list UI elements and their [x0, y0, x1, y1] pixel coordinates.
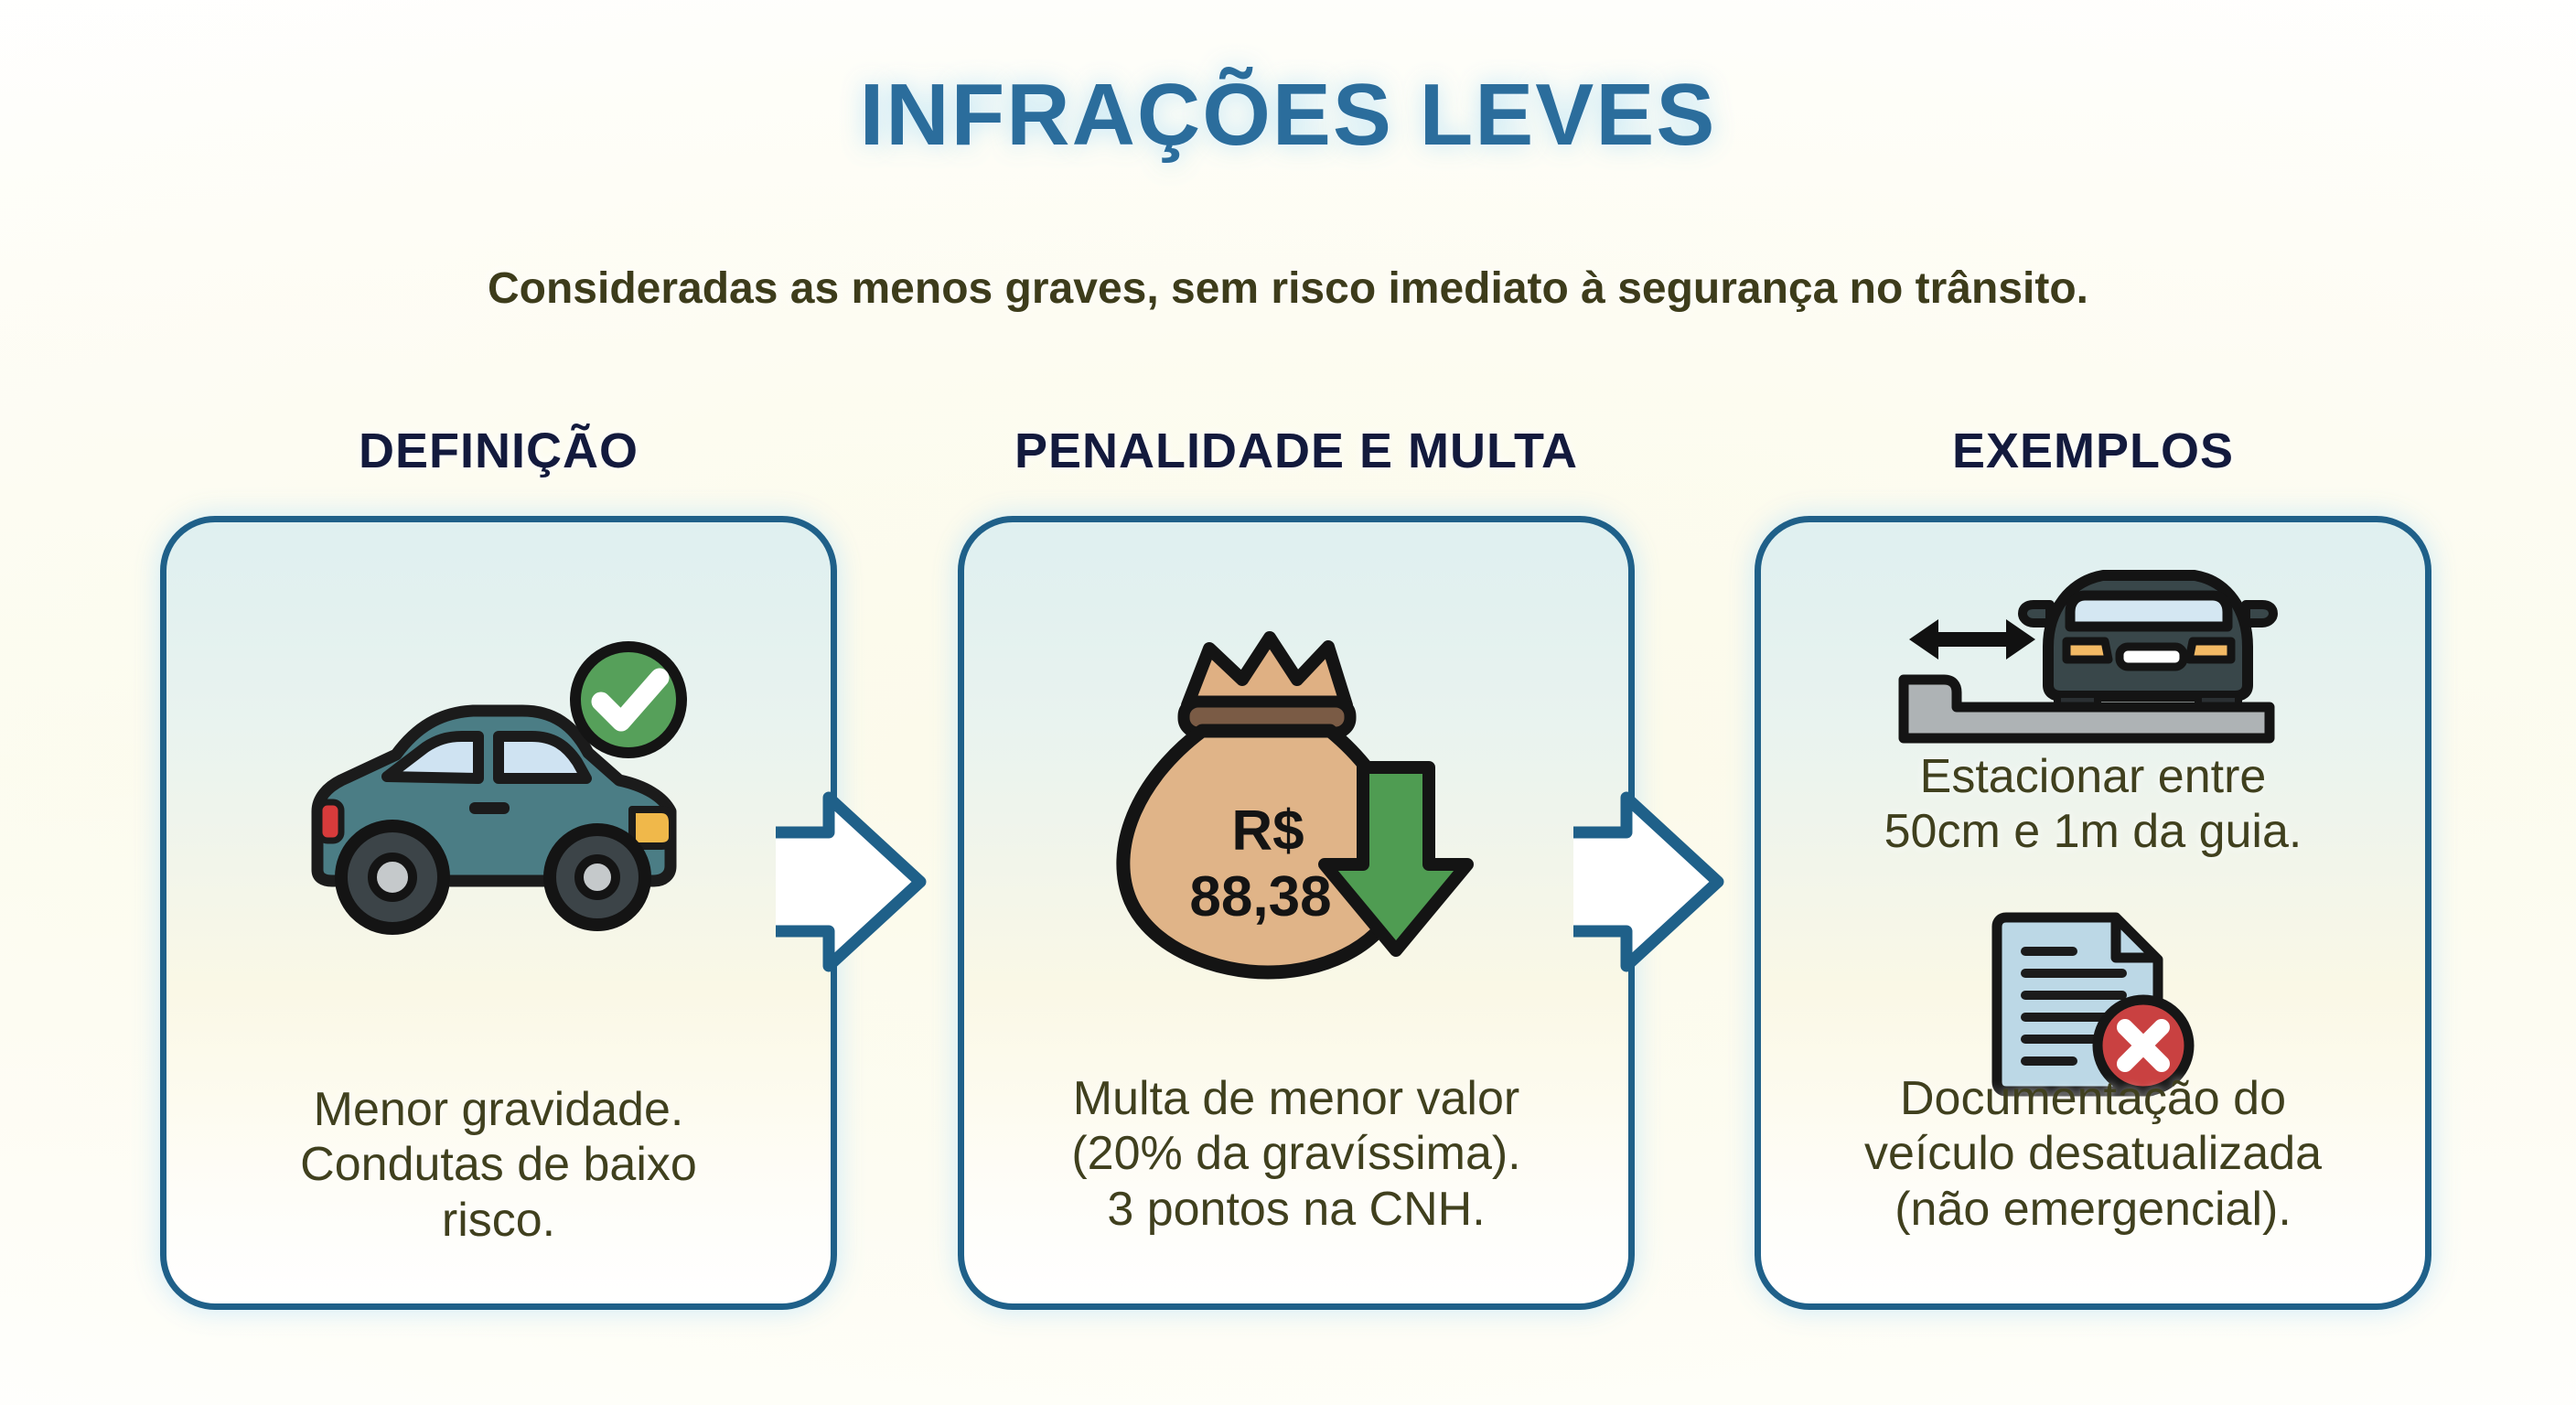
money-bag-icon: R$ 88,38 [1100, 610, 1493, 1003]
card-penalidade-line-1: (20% da gravíssima). [986, 1126, 1606, 1181]
card-exemplos: Estacionar entre 50cm e 1m da guia. [1755, 516, 2431, 1310]
column-header-exemplos: EXEMPLOS [1755, 423, 2431, 479]
card-exemplos-bottom-line-2: (não emergencial). [1783, 1182, 2403, 1237]
card-definicao-line-0: Menor gravidade. [188, 1082, 809, 1137]
card-exemplos-text-bottom: Documentação do veículo desatualizada (n… [1761, 1071, 2425, 1237]
card-exemplos-top-line-0: Estacionar entre [1783, 749, 2403, 804]
right-arrow-outline-icon [776, 785, 940, 1014]
money-currency-label: R$ [1231, 799, 1304, 863]
money-bag-icon-wrap: R$ 88,38 [964, 610, 1628, 1003]
card-exemplos-bottom-line-0: Documentação do [1783, 1071, 2403, 1126]
card-definicao-line-2: risco. [188, 1193, 809, 1248]
card-exemplos-bottom-line-1: veículo desatualizada [1783, 1126, 2403, 1181]
card-definicao-text: Menor gravidade. Condutas de baixo risco… [166, 1082, 831, 1248]
card-exemplos-text-top: Estacionar entre 50cm e 1m da guia. [1761, 749, 2425, 860]
infographic-canvas: INFRAÇÕES LEVES Consideradas as menos gr… [0, 0, 2576, 1405]
car-curb-distance-icon-wrap [1761, 559, 2425, 769]
card-definicao: Menor gravidade. Condutas de baixo risco… [160, 516, 837, 1310]
right-arrow-outline-icon [1573, 785, 1738, 1014]
card-penalidade-line-2: 3 pontos na CNH. [986, 1182, 1606, 1237]
card-penalidade-text: Multa de menor valor (20% da gravíssima)… [964, 1071, 1628, 1237]
column-header-penalidade: PENALIDADE E MULTA [958, 423, 1635, 479]
money-amount-label: 88,38 [1189, 865, 1331, 928]
car-check-icon [279, 641, 718, 943]
card-exemplos-top-line-1: 50cm e 1m da guia. [1783, 804, 2403, 859]
arrow-penalidade-to-exemplos [1573, 785, 1738, 1014]
car-check-icon-wrap [166, 641, 831, 943]
distance-arrow-icon [1909, 619, 2035, 660]
page-title: INFRAÇÕES LEVES [0, 70, 2576, 162]
arrow-definicao-to-penalidade [776, 785, 940, 1014]
column-header-definicao: DEFINIÇÃO [160, 423, 837, 479]
card-penalidade-line-0: Multa de menor valor [986, 1071, 1606, 1126]
document-rejected-icon [1979, 906, 2207, 1099]
page-subtitle: Consideradas as menos graves, sem risco … [0, 263, 2576, 314]
card-definicao-line-1: Condutas de baixo [188, 1137, 809, 1192]
document-rejected-icon-wrap [1761, 906, 2425, 1099]
card-penalidade: R$ 88,38 Multa de menor valor (20% da gr… [958, 516, 1635, 1310]
car-curb-distance-icon [1896, 559, 2290, 769]
